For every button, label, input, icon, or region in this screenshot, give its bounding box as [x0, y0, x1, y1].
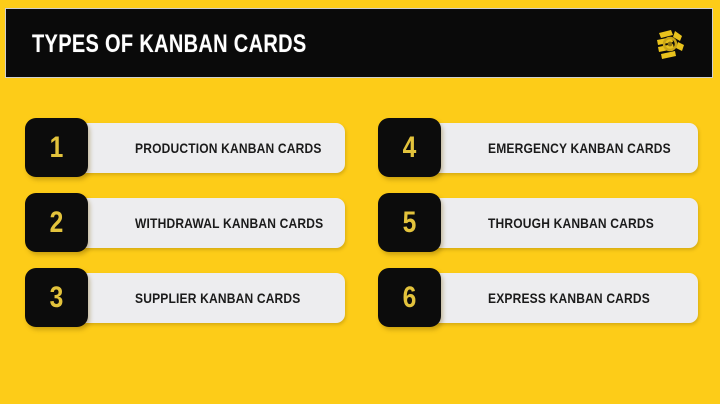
- item-number-badge: 1: [25, 118, 88, 177]
- list-item[interactable]: THROUGH KANBAN CARDS 5: [378, 193, 698, 253]
- item-number: 6: [384, 268, 436, 327]
- list-item[interactable]: PRODUCTION KANBAN CARDS 1: [25, 118, 345, 178]
- slide-canvas: TYPES OF KANBAN CARDS PRODUCTION KANBAN …: [0, 0, 720, 404]
- item-number-badge: 3: [25, 268, 88, 327]
- item-number-badge: 2: [25, 193, 88, 252]
- list-item[interactable]: SUPPLIER KANBAN CARDS 3: [25, 268, 345, 328]
- list-item[interactable]: WITHDRAWAL KANBAN CARDS 2: [25, 193, 345, 253]
- item-number-badge: 6: [378, 268, 441, 327]
- item-number: 4: [384, 118, 436, 177]
- item-bar: SUPPLIER KANBAN CARDS: [70, 273, 345, 323]
- item-number: 5: [384, 193, 436, 252]
- item-label: EMERGENCY KANBAN CARDS: [488, 123, 671, 173]
- kanban-brand-emblem-icon: [651, 27, 689, 63]
- item-label: EXPRESS KANBAN CARDS: [488, 273, 650, 323]
- list-item[interactable]: EMERGENCY KANBAN CARDS 4: [378, 118, 698, 178]
- item-number-badge: 5: [378, 193, 441, 252]
- list-item[interactable]: EXPRESS KANBAN CARDS 6: [378, 268, 698, 328]
- item-label: PRODUCTION KANBAN CARDS: [135, 123, 322, 173]
- header-bar: TYPES OF KANBAN CARDS: [5, 8, 713, 78]
- page-title: TYPES OF KANBAN CARDS: [32, 29, 307, 59]
- item-label: SUPPLIER KANBAN CARDS: [135, 273, 300, 323]
- item-number: 3: [31, 268, 83, 327]
- item-bar: THROUGH KANBAN CARDS: [423, 198, 698, 248]
- item-number: 1: [31, 118, 83, 177]
- item-bar: PRODUCTION KANBAN CARDS: [70, 123, 345, 173]
- item-bar: EMERGENCY KANBAN CARDS: [423, 123, 698, 173]
- item-number-badge: 4: [378, 118, 441, 177]
- item-bar: WITHDRAWAL KANBAN CARDS: [70, 198, 345, 248]
- item-bar: EXPRESS KANBAN CARDS: [423, 273, 698, 323]
- item-label: WITHDRAWAL KANBAN CARDS: [135, 198, 323, 248]
- item-label: THROUGH KANBAN CARDS: [488, 198, 654, 248]
- item-number: 2: [31, 193, 83, 252]
